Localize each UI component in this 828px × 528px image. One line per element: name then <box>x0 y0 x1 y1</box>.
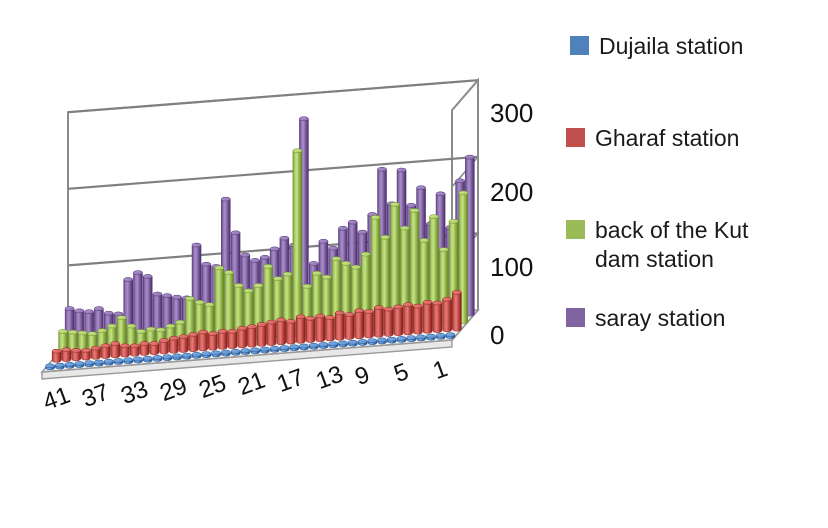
bar-cylinder <box>72 348 81 360</box>
bar-cylinder <box>355 309 364 339</box>
bar-cylinder <box>75 362 84 368</box>
bar-cylinder <box>306 316 315 342</box>
bar-cylinder <box>133 357 142 363</box>
bar-cylinder <box>114 359 123 365</box>
bar-cylinder <box>150 342 159 355</box>
bar-cylinder <box>202 352 211 358</box>
bar-cylinder <box>238 326 247 348</box>
bar-cylinder <box>267 320 276 345</box>
bar-cylinder <box>348 340 357 346</box>
bar-cylinder <box>280 346 289 352</box>
bar-cylinder <box>319 343 328 349</box>
chart-3d-cylinder: Dujaila stationGharaf station back of th… <box>0 0 828 523</box>
bar-cylinder <box>81 348 90 360</box>
bar-cylinder <box>218 329 227 349</box>
value-axis-tick-label: 300 <box>490 98 533 129</box>
bar-cylinder <box>182 353 191 359</box>
legend-label: back of the Kut dam station <box>595 216 748 275</box>
bar-cylinder <box>173 354 182 360</box>
bar-cylinder <box>241 349 250 355</box>
bar-cylinder <box>286 319 295 344</box>
value-axis-tick-label: 0 <box>490 320 504 351</box>
bar-cylinder <box>94 360 103 366</box>
bar-cylinder <box>368 339 377 345</box>
bar-cylinder <box>143 356 152 362</box>
bar-cylinder <box>104 359 113 365</box>
bar-cylinder <box>296 315 305 344</box>
legend-swatch-icon <box>566 308 585 327</box>
bar-cylinder <box>394 305 403 336</box>
legend-label: saray station <box>595 304 725 333</box>
bar-cylinder <box>374 306 383 338</box>
bar-cylinder <box>91 346 100 359</box>
bar-cylinder <box>407 336 416 342</box>
bar-cylinder <box>290 345 299 351</box>
bar-cylinder <box>140 342 149 356</box>
bar-cylinder <box>404 303 413 335</box>
bar-cylinder <box>62 348 71 362</box>
bar-cylinder <box>329 342 338 348</box>
bar-cylinder <box>247 325 256 347</box>
bar-cylinder <box>55 363 64 369</box>
bar-cylinder <box>251 348 260 354</box>
bar-cylinder <box>270 346 279 352</box>
value-axis-tick-label: 200 <box>490 177 533 208</box>
bar-cylinder <box>365 309 374 338</box>
bar-cylinder <box>293 149 302 337</box>
bar-cylinder <box>436 333 445 339</box>
legend-swatch-icon <box>566 128 585 147</box>
chart-legend: Dujaila stationGharaf station back of th… <box>566 14 824 354</box>
bar-cylinder <box>358 339 367 345</box>
legend-item-3[interactable]: saray station <box>566 304 725 333</box>
bar-cylinder <box>309 343 318 349</box>
bar-cylinder <box>65 362 74 368</box>
bar-cylinder <box>212 351 221 357</box>
bar-cylinder <box>260 347 269 353</box>
bar-cylinder <box>163 355 172 361</box>
bar-cylinder <box>208 332 217 351</box>
bar-cylinder <box>46 364 55 370</box>
legend-item-2[interactable]: back of the Kut dam station <box>566 216 748 275</box>
bar-cylinder <box>231 349 240 355</box>
bar-cylinder <box>446 333 455 339</box>
bar-cylinder <box>345 313 354 340</box>
bar-cylinder <box>257 322 266 346</box>
bar-cylinder <box>397 336 406 342</box>
bar-cylinder <box>192 352 201 358</box>
bar-cylinder <box>426 334 435 340</box>
bar-cylinder <box>423 300 432 333</box>
bar-cylinder <box>452 290 461 331</box>
bar-cylinder <box>124 358 133 364</box>
bar-cylinder <box>199 330 208 351</box>
legend-label: Gharaf station <box>595 124 739 153</box>
bar-cylinder <box>101 344 110 359</box>
bar-cylinder <box>277 318 286 345</box>
legend-swatch-icon <box>570 36 589 55</box>
legend-item-1[interactable]: Gharaf station <box>566 124 739 153</box>
bar-cylinder <box>179 335 188 353</box>
bar-cylinder <box>153 355 162 361</box>
legend-item-0[interactable]: Dujaila station <box>570 32 743 61</box>
bar-cylinder <box>387 337 396 343</box>
bar-cylinder <box>52 349 61 362</box>
bar-cylinder <box>443 297 452 332</box>
bar-cylinder <box>130 344 139 356</box>
bar-cylinder <box>111 342 120 358</box>
bar-cylinder <box>335 311 344 340</box>
bar-cylinder <box>433 301 442 333</box>
bar-cylinder <box>325 316 334 341</box>
bar-cylinder <box>169 336 178 353</box>
bar-cylinder <box>160 339 169 354</box>
bar-cylinder <box>120 344 129 357</box>
bar-cylinder <box>228 329 237 348</box>
bar-cylinder <box>85 361 94 367</box>
bar-cylinder <box>384 307 393 336</box>
bar-cylinder <box>316 314 325 342</box>
value-axis-tick-label: 100 <box>490 252 533 283</box>
bar-cylinder <box>413 304 422 334</box>
bar-cylinder <box>299 344 308 350</box>
bar-cylinder <box>417 335 426 341</box>
legend-swatch-icon <box>566 220 585 239</box>
bar-cylinder <box>378 338 387 344</box>
bar-cylinder <box>189 332 198 351</box>
bar-cylinder <box>221 350 230 356</box>
legend-label: Dujaila station <box>599 32 743 61</box>
bar-cylinder <box>338 341 347 347</box>
